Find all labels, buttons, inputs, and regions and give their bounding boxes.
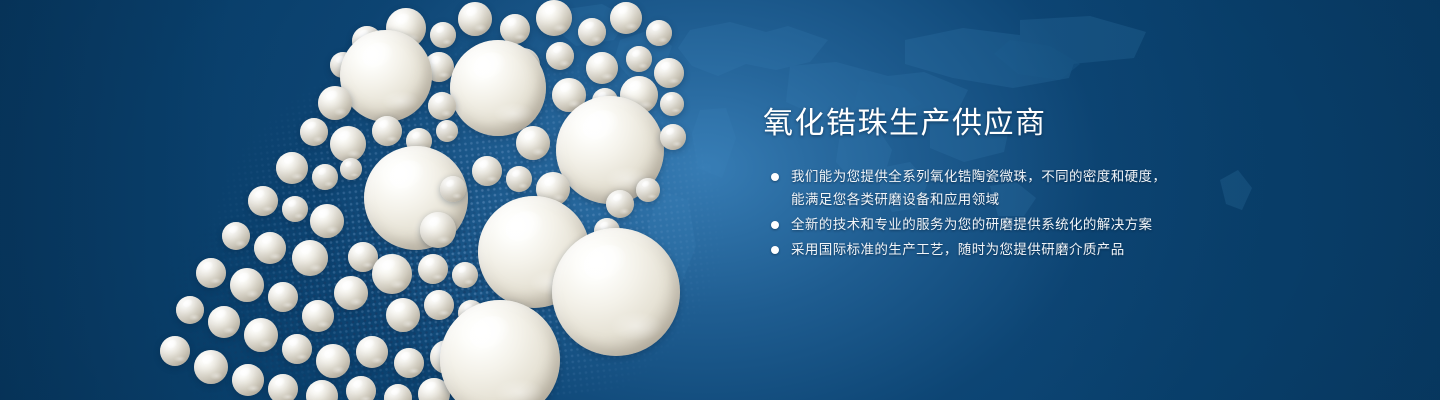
banner-copy: 氧化锆珠生产供应商 我们能为您提供全系列氧化锆陶瓷微珠，不同的密度和硬度， 能满…	[763, 104, 1233, 263]
list-item: 我们能为您提供全系列氧化锆陶瓷微珠，不同的密度和硬度， 能满足您各类研磨设备和应…	[763, 165, 1233, 211]
page-title: 氧化锆珠生产供应商	[763, 104, 1233, 144]
list-item-line: 能满足您各类研磨设备和应用领域	[791, 188, 1233, 211]
list-item-line: 我们能为您提供全系列氧化锆陶瓷微珠，不同的密度和硬度，	[791, 165, 1233, 188]
hero-banner: 氧化锆珠生产供应商 我们能为您提供全系列氧化锆陶瓷微珠，不同的密度和硬度， 能满…	[0, 0, 1440, 400]
dot-bullet-icon	[771, 221, 779, 229]
list-item: 全新的技术和专业的服务为您的研磨提供系统化的解决方案	[763, 213, 1233, 236]
dot-bullet-icon	[771, 246, 779, 254]
feature-list: 我们能为您提供全系列氧化锆陶瓷微珠，不同的密度和硬度， 能满足您各类研磨设备和应…	[763, 165, 1233, 261]
dot-bullet-icon	[771, 173, 779, 181]
list-item-line: 采用国际标准的生产工艺，随时为您提供研磨介质产品	[791, 238, 1233, 261]
list-item-line: 全新的技术和专业的服务为您的研磨提供系统化的解决方案	[791, 213, 1233, 236]
list-item: 采用国际标准的生产工艺，随时为您提供研磨介质产品	[763, 238, 1233, 261]
